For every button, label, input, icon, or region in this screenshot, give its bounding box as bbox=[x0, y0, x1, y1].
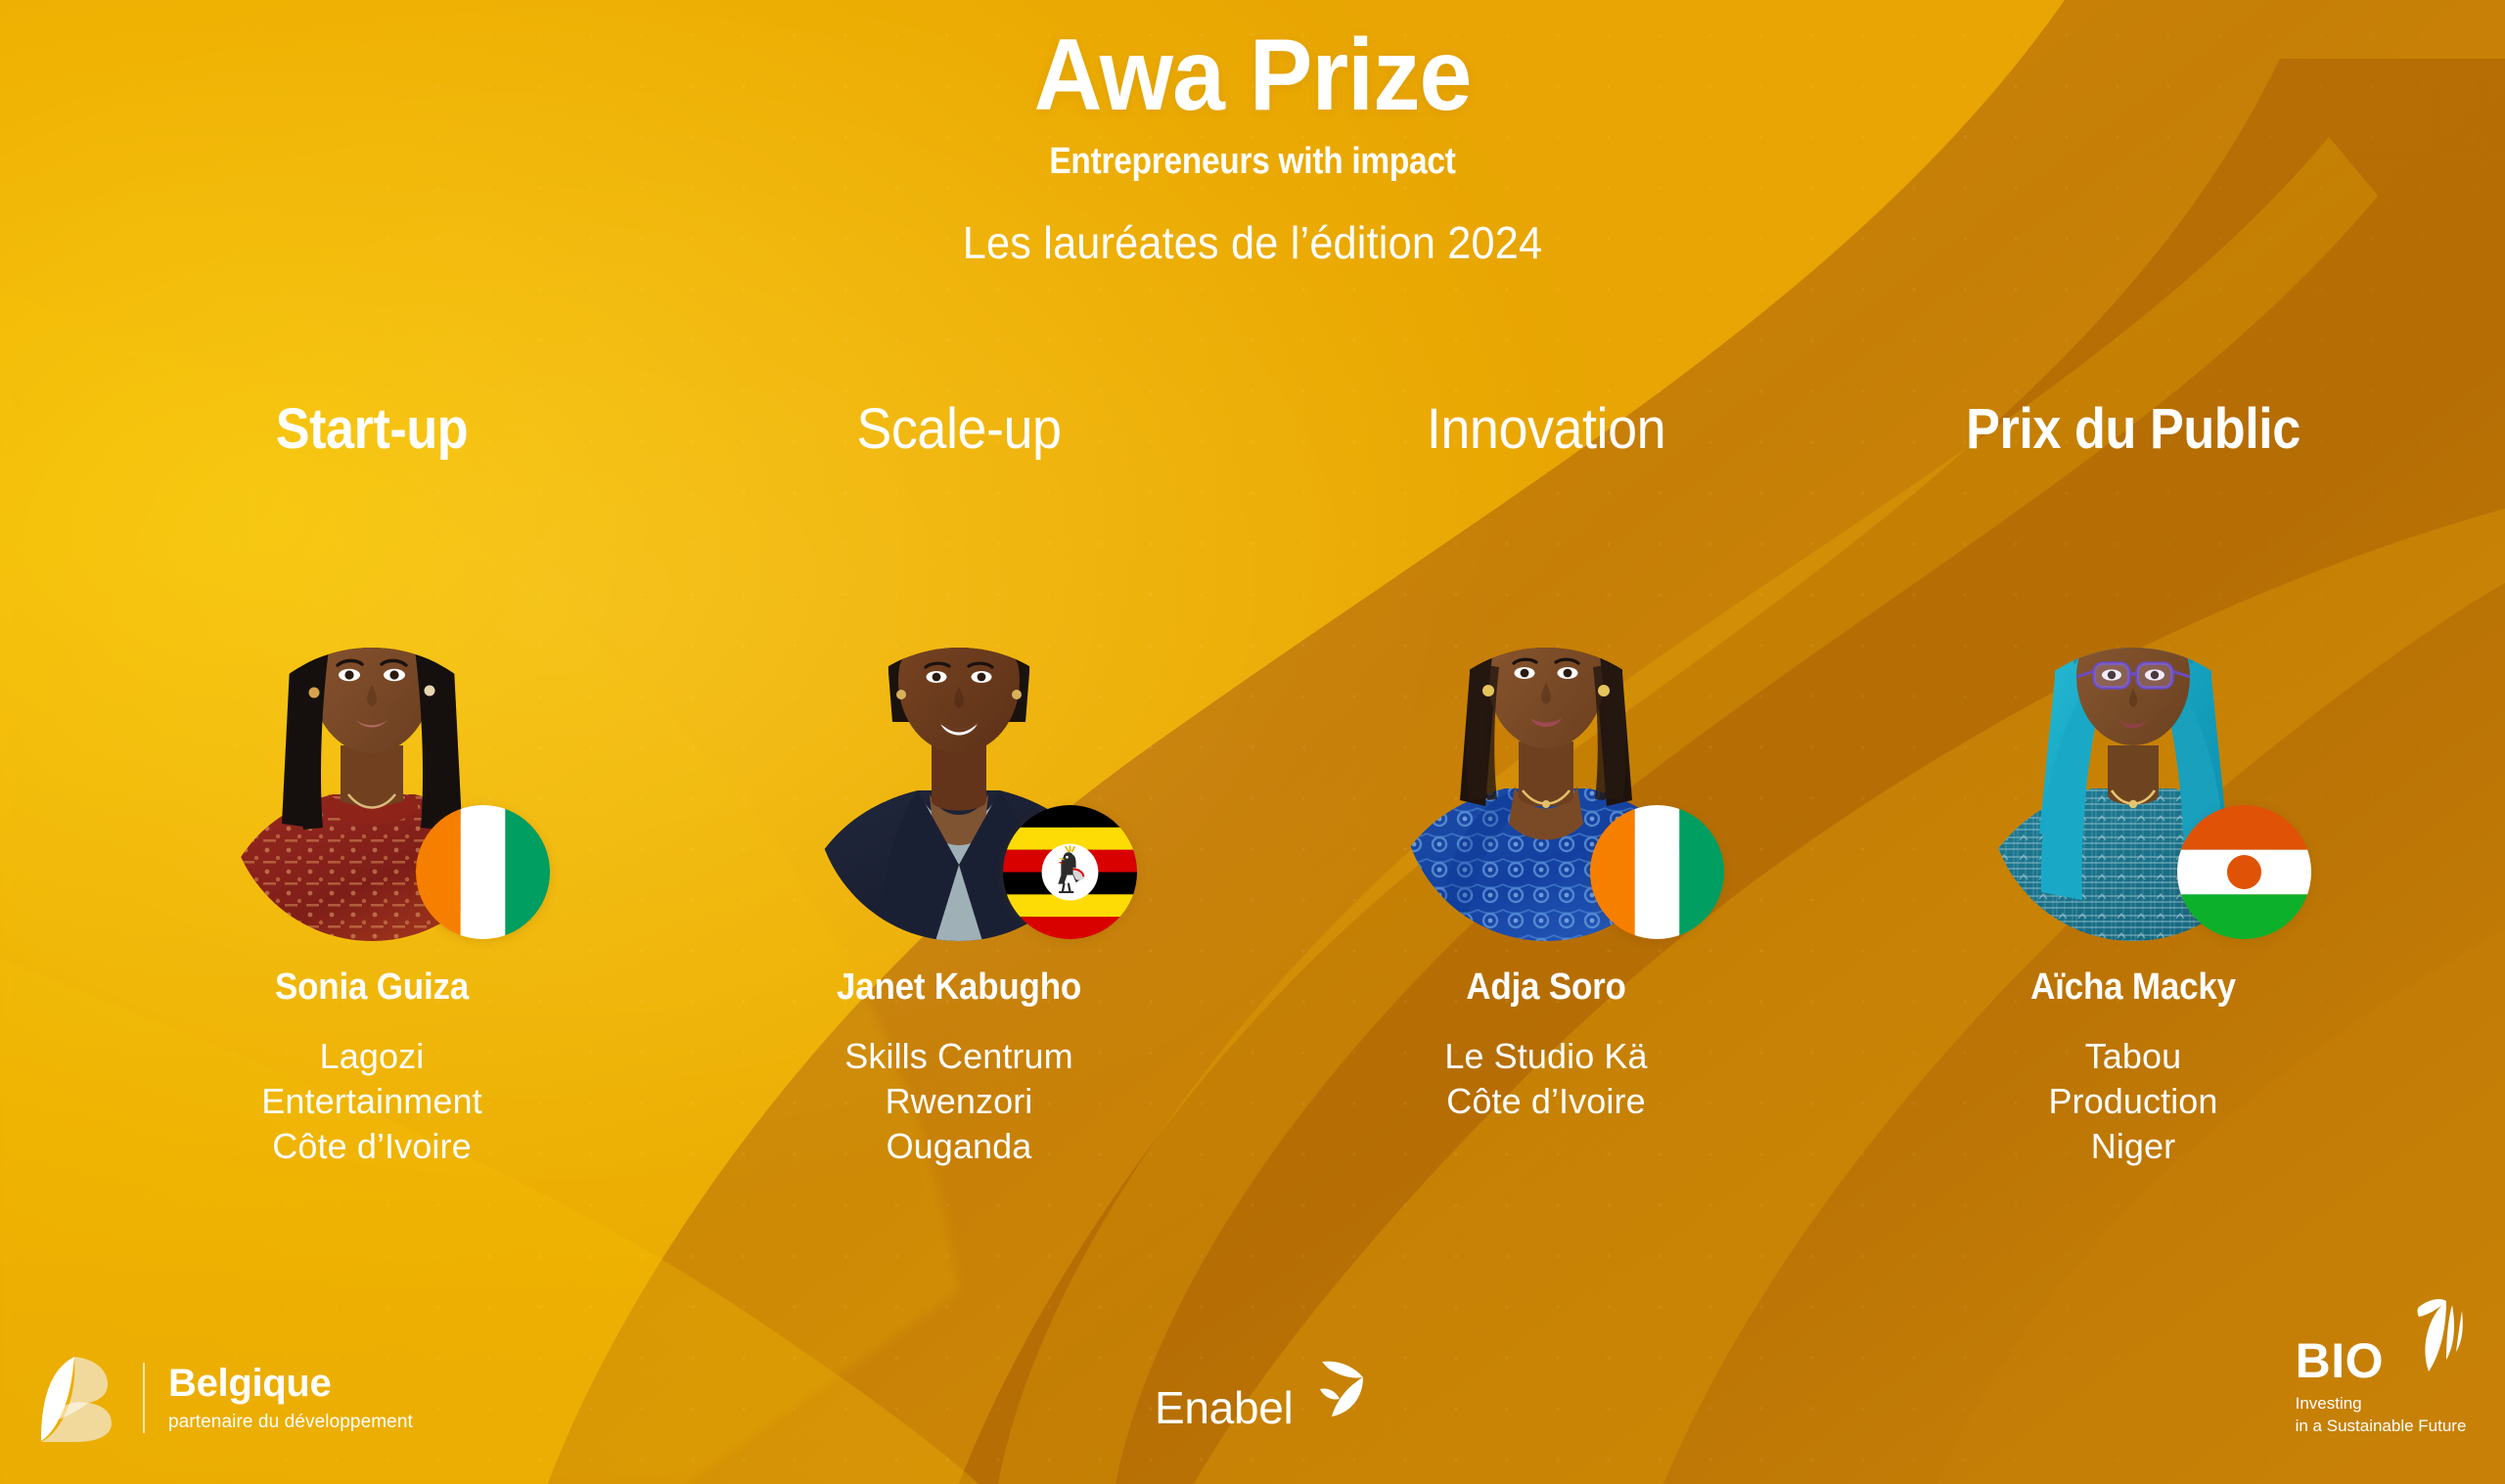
bio-name: BIO bbox=[2296, 1339, 2384, 1383]
cote-divoire-flag bbox=[416, 805, 550, 939]
winner-organisation: Lagozi Entertainment Côte d’Ivoire bbox=[78, 1034, 665, 1169]
belgique-name: Belgique bbox=[168, 1364, 413, 1403]
enabel-name: Enabel bbox=[1155, 1385, 1293, 1430]
category-title-innovation: Innovation bbox=[1273, 401, 1819, 458]
awa-prize-poster: Awa Prize Entrepreneurs with impact Les … bbox=[0, 0, 2505, 1484]
bio-tagline-line1: Investing bbox=[2296, 1393, 2470, 1415]
winner-organisation: Tabou Production Niger bbox=[1840, 1034, 2427, 1169]
bio-logo: BIO Investing in a Sustainable Future bbox=[2296, 1293, 2470, 1437]
belgique-tagline: partenaire du développement bbox=[168, 1412, 413, 1433]
enabel-leaf-logo-icon bbox=[1302, 1356, 1373, 1424]
page-subtitle: Entrepreneurs with impact bbox=[151, 141, 2355, 183]
winner-name: Janet Kabugho bbox=[689, 967, 1229, 1009]
poster-header: Awa Prize Entrepreneurs with impact Les … bbox=[0, 23, 2505, 269]
portrait-wrap-janet-kabugho bbox=[763, 501, 1155, 941]
bio-tagline-line2: in a Sustainable Future bbox=[2296, 1416, 2470, 1437]
portrait-wrap-adja-soro bbox=[1350, 501, 1742, 941]
category-title-start-up: Start-up bbox=[108, 401, 636, 458]
winner-card-innovation: Innovation bbox=[1252, 401, 1840, 1124]
winner-card-scale-up: Scale-up bbox=[665, 401, 1252, 1169]
logo-divider bbox=[143, 1363, 145, 1433]
portrait-wrap-aicha-macky bbox=[1937, 501, 2329, 941]
uganda-flag bbox=[1003, 805, 1137, 939]
bio-tagline: Investing in a Sustainable Future bbox=[2296, 1393, 2470, 1437]
enabel-logo: Enabel bbox=[1155, 1356, 1373, 1430]
page-title: Awa Prize bbox=[88, 23, 2418, 127]
bio-leaf-logo-icon bbox=[2390, 1293, 2470, 1383]
category-title-scale-up: Scale-up bbox=[686, 401, 1232, 458]
portrait-wrap-sonia-guiza bbox=[176, 501, 568, 941]
belgium-leaf-b-logo-icon bbox=[29, 1351, 119, 1445]
winner-card-prix-du-public: Prix du Public bbox=[1840, 401, 2427, 1169]
winner-organisation: Le Studio Kä Côte d’Ivoire bbox=[1252, 1034, 1840, 1124]
category-title-prix-du-public: Prix du Public bbox=[1869, 401, 2397, 458]
niger-flag bbox=[2177, 805, 2311, 939]
edition-label: Les lauréates de l’édition 2024 bbox=[75, 216, 2430, 269]
winner-card-start-up: Start-up bbox=[78, 401, 665, 1169]
belgique-logo: Belgique partenaire du développement bbox=[29, 1351, 413, 1445]
winners-grid: Start-up bbox=[0, 401, 2505, 1169]
winner-name: Sonia Guiza bbox=[102, 967, 642, 1009]
winner-name: Aïcha Macky bbox=[1863, 967, 2403, 1009]
winner-name: Adja Soro bbox=[1276, 967, 1816, 1009]
cote-divoire-flag bbox=[1590, 805, 1724, 939]
winner-organisation: Skills Centrum Rwenzori Ouganda bbox=[665, 1034, 1252, 1169]
